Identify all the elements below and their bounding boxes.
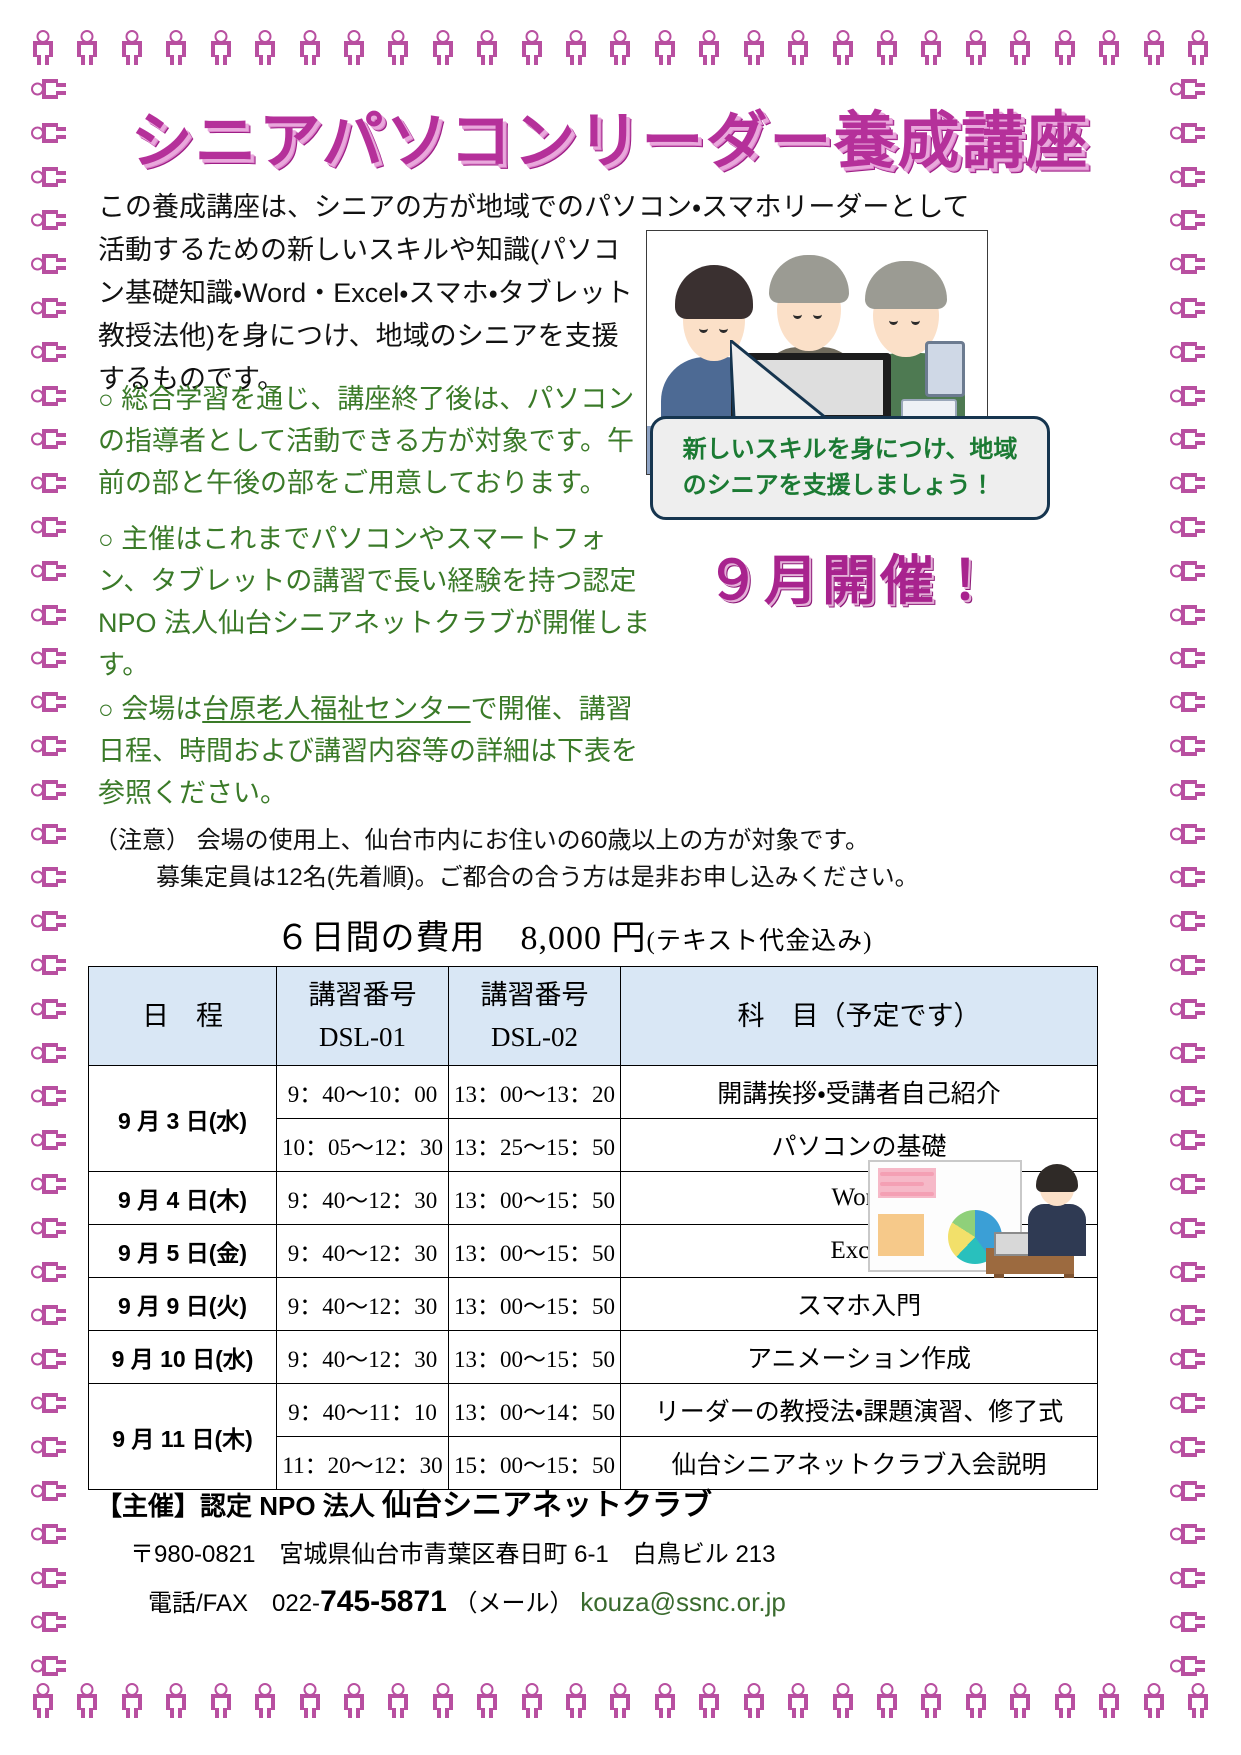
header-subject: 科 目（予定です） [621, 967, 1098, 1066]
header-course-2: 講習番号 DSL-02 [449, 967, 621, 1066]
cell-time-1: 9：40～11：10 [277, 1384, 449, 1437]
border-person-icon [295, 1681, 325, 1723]
border-person-icon [1167, 1519, 1209, 1549]
border-bottom [28, 1681, 1213, 1727]
border-person-icon [28, 906, 70, 936]
bullet-prefix-3: 会場は [121, 694, 202, 724]
cell-date: 9 月 9 日(火) [89, 1278, 277, 1331]
border-person-icon [28, 249, 70, 279]
border-person-icon [1167, 1476, 1209, 1506]
border-person-icon [739, 28, 769, 70]
border-person-icon [28, 1432, 70, 1462]
border-person-icon [1094, 28, 1124, 70]
mail-label: （メール） [454, 1590, 574, 1617]
border-person-icon [28, 1563, 70, 1593]
header-course-1-code: DSL-01 [281, 1016, 444, 1058]
bubble-line-1: 新しいスキルを身につけ、地域 [683, 436, 1018, 463]
tel-number: 745-5871 [320, 1585, 447, 1618]
border-person-icon [1167, 424, 1209, 454]
cell-date: 9 月 11 日(木) [89, 1384, 277, 1490]
border-person-icon [1167, 468, 1209, 498]
border-person-icon [1167, 556, 1209, 586]
border-person-icon [28, 468, 70, 498]
border-person-icon [206, 28, 236, 70]
table-row: 9 月 5 日(金)9：40～12：3013：00～15：50Excel [89, 1225, 1098, 1278]
organizer-prefix: 【主催】認定 NPO 法人 [96, 1491, 375, 1521]
bullet-point-3: ○ 会場は台原老人福祉センターで開催、講習日程、時間および講習内容等の詳細は下表… [98, 688, 658, 814]
border-person-icon [28, 1213, 70, 1243]
border-person-icon [28, 74, 70, 104]
border-person-icon [561, 28, 591, 70]
border-person-icon [250, 28, 280, 70]
note-line-2: 募集定員は12名(先着順)。ご都合の合う方は是非お申し込みください。 [94, 859, 1094, 896]
border-person-icon [517, 28, 547, 70]
border-person-icon [1167, 1563, 1209, 1593]
border-person-icon [872, 1681, 902, 1723]
border-person-icon [1167, 293, 1209, 323]
cell-time-1: 9：40～12：30 [277, 1278, 449, 1331]
cell-date: 9 月 3 日(水) [89, 1066, 277, 1172]
border-person-icon [28, 862, 70, 892]
header-course-2-main: 講習番号 [481, 980, 589, 1010]
border-person-icon [1167, 118, 1209, 148]
border-person-icon [28, 293, 70, 323]
border-person-icon [1167, 994, 1209, 1024]
table-header-row: 日 程 講習番号 DSL-01 講習番号 DSL-02 科 目（予定です） [89, 967, 1098, 1066]
schedule-table-body: 9 月 3 日(水)9：40～10：0013：00～13：20開講挨拶・受講者自… [89, 1066, 1098, 1490]
border-person-icon [961, 1681, 991, 1723]
footer-contact: 【主催】認定 NPO 法人 仙台シニアネットクラブ 〒980-0821 宮城県仙… [96, 1480, 1096, 1619]
fee-heading: ６日間の費用 8,000 円(テキスト代金込み) [94, 910, 1054, 959]
cell-time-2: 13：00～13：20 [449, 1066, 621, 1119]
cell-subject: Excel [621, 1225, 1098, 1278]
border-person-icon [1167, 249, 1209, 279]
tel-label: 電話/FAX 022- [148, 1590, 320, 1617]
table-row: 9 月 3 日(水)9：40～10：0013：00～13：20開講挨拶・受講者自… [89, 1066, 1098, 1119]
border-person-icon [28, 1388, 70, 1418]
border-person-icon [1139, 1681, 1169, 1723]
border-person-icon [605, 1681, 635, 1723]
organizer-line: 【主催】認定 NPO 法人 仙台シニアネットクラブ [96, 1480, 1096, 1524]
cell-time-2: 13：25～15：50 [449, 1119, 621, 1172]
border-person-icon [28, 1300, 70, 1330]
border-person-icon [339, 1681, 369, 1723]
border-person-icon [1167, 1038, 1209, 1068]
border-person-icon [1167, 643, 1209, 673]
border-person-icon [28, 337, 70, 367]
border-person-icon [1005, 1681, 1035, 1723]
bullet-text-1: 総合学習を通じ、講座終了後は、パソコンの指導者として活動できる方が対象です。午前… [98, 384, 634, 498]
border-person-icon [605, 28, 635, 70]
cell-date: 9 月 10 日(水) [89, 1331, 277, 1384]
cell-subject: 開講挨拶・受講者自己紹介 [621, 1066, 1098, 1119]
border-person-icon [28, 162, 70, 192]
border-person-icon [1167, 731, 1209, 761]
border-person-icon [1167, 1125, 1209, 1155]
border-person-icon [1167, 862, 1209, 892]
border-person-icon [916, 1681, 946, 1723]
border-person-icon [28, 1081, 70, 1111]
border-person-icon [561, 1681, 591, 1723]
cell-subject: リーダーの教授法・課題演習、修了式 [621, 1384, 1098, 1437]
border-person-icon [1167, 74, 1209, 104]
border-person-icon [1167, 819, 1209, 849]
border-person-icon [28, 643, 70, 673]
organizer-name: 仙台シニアネットクラブ [382, 1489, 712, 1522]
border-person-icon [28, 512, 70, 542]
border-person-icon [28, 600, 70, 630]
border-person-icon [383, 28, 413, 70]
border-person-icon [694, 1681, 724, 1723]
border-person-icon [1167, 1432, 1209, 1462]
flyer-content: シニアパソコンリーダー養成講座 この養成講座は、シニアの方が地域でのパソコン・ス… [78, 78, 1163, 1678]
border-person-icon [1050, 1681, 1080, 1723]
intro-rest: 活動するための新しいスキルや知識(パソコン基礎知識・Word・Excel・スマホ… [98, 229, 643, 401]
border-person-icon [472, 1681, 502, 1723]
border-person-icon [28, 28, 58, 70]
border-person-icon [872, 28, 902, 70]
bubble-line-2: のシニアを支援しましょう！ [683, 472, 995, 499]
border-person-icon [694, 28, 724, 70]
border-person-icon [1167, 1388, 1209, 1418]
cell-time-2: 13：00～15：50 [449, 1172, 621, 1225]
cell-time-2: 13：00～14：50 [449, 1384, 621, 1437]
border-person-icon [650, 1681, 680, 1723]
cell-time-2: 13：00～15：50 [449, 1225, 621, 1278]
border-person-icon [250, 1681, 280, 1723]
border-right [1167, 74, 1213, 1681]
email-address[interactable]: kouza@ssnc.or.jp [580, 1587, 786, 1617]
border-person-icon [1167, 1081, 1209, 1111]
bullet-mark-1: ○ [98, 384, 114, 414]
header-subject-main: 科 目（予定です） [738, 1001, 981, 1031]
border-person-icon [517, 1681, 547, 1723]
border-person-icon [1167, 1607, 1209, 1637]
border-person-icon [1050, 28, 1080, 70]
border-person-icon [1167, 687, 1209, 717]
border-person-icon [1167, 1169, 1209, 1199]
border-person-icon [1167, 1344, 1209, 1374]
border-person-icon [28, 381, 70, 411]
bullet-mark-3: ○ [98, 694, 114, 724]
border-person-icon [28, 687, 70, 717]
intro-line-1: この養成講座は、シニアの方が地域でのパソコン・スマホリーダーとして [98, 186, 1033, 229]
cell-subject: Word [621, 1172, 1098, 1225]
border-person-icon [1167, 162, 1209, 192]
cell-time-1: 9：40～10：00 [277, 1066, 449, 1119]
border-person-icon [428, 1681, 458, 1723]
header-date-main: 日 程 [142, 1001, 223, 1031]
border-person-icon [1167, 1213, 1209, 1243]
table-row: 9 月 4 日(木)9：40～12：3013：00～15：50Word [89, 1172, 1098, 1225]
border-person-icon [28, 994, 70, 1024]
organizer-contact: 電話/FAX 022-745-5871 （メール） kouza@ssnc.or.… [96, 1583, 1096, 1619]
border-person-icon [72, 1681, 102, 1723]
table-row: 9 月 9 日(火)9：40～12：3013：00～15：50スマホ入門 [89, 1278, 1098, 1331]
table-row: 9 月 10 日(水)9：40～12：3013：00～15：50アニメーション作… [89, 1331, 1098, 1384]
border-person-icon [28, 1476, 70, 1506]
border-person-icon [739, 1681, 769, 1723]
border-person-icon [28, 950, 70, 980]
border-person-icon [828, 28, 858, 70]
border-person-icon [295, 28, 325, 70]
bullet-text-2: 主催はこれまでパソコンやスマートフォン、タブレットの講習で長い経験を持つ認定NP… [98, 524, 650, 680]
border-person-icon [117, 1681, 147, 1723]
border-person-icon [1167, 600, 1209, 630]
cell-subject: アニメーション作成 [621, 1331, 1098, 1384]
bullet-mark-2: ○ [98, 524, 114, 554]
border-person-icon [28, 1038, 70, 1068]
border-person-icon [28, 1257, 70, 1287]
organizer-address: 〒980-0821 宮城県仙台市青葉区春日町 6-1 白鳥ビル 213 [96, 1534, 1096, 1569]
border-person-icon [1094, 1681, 1124, 1723]
border-person-icon [28, 775, 70, 805]
table-row: 9 月 11 日(木)9：40～11：1013：00～14：50リーダーの教授法… [89, 1384, 1098, 1437]
border-person-icon [1167, 906, 1209, 936]
month-banner: ９月開催！ [656, 536, 1046, 615]
bullet-point-2: ○ 主催はこれまでパソコンやスマートフォン、タブレットの講習で長い経験を持つ認定… [98, 518, 658, 686]
border-person-icon [1167, 512, 1209, 542]
border-person-icon [428, 28, 458, 70]
speech-bubble: 新しいスキルを身につけ、地域 のシニアを支援しましょう！ [650, 416, 1050, 520]
speech-bubble-text: 新しいスキルを身につけ、地域 のシニアを支援しましょう！ [673, 432, 1028, 504]
fee-main: ６日間の費用 8,000 円 [276, 920, 647, 957]
cell-time-1: 10：05～12：30 [277, 1119, 449, 1172]
border-person-icon [28, 556, 70, 586]
border-person-icon [783, 1681, 813, 1723]
border-person-icon [1167, 1257, 1209, 1287]
border-person-icon [28, 1681, 58, 1723]
cell-time-1: 9：40～12：30 [277, 1172, 449, 1225]
cell-time-2: 13：00～15：50 [449, 1278, 621, 1331]
border-left [28, 74, 74, 1681]
border-top [28, 28, 1213, 74]
border-person-icon [1167, 205, 1209, 235]
border-person-icon [28, 205, 70, 235]
border-person-icon [28, 1169, 70, 1199]
fee-suffix: (テキスト代金込み) [647, 928, 873, 955]
border-person-icon [472, 28, 502, 70]
cell-time-1: 9：40～12：30 [277, 1331, 449, 1384]
note-line-1: （注意） 会場の使用上、仙台市内にお住いの60歳以上の方が対象です。 [94, 827, 869, 854]
border-person-icon [1183, 1681, 1213, 1723]
header-course-1: 講習番号 DSL-01 [277, 967, 449, 1066]
page-title: シニアパソコンリーダー養成講座 [100, 90, 1120, 180]
border-person-icon [1139, 28, 1169, 70]
border-person-icon [161, 28, 191, 70]
cell-subject: パソコンの基礎 [621, 1119, 1098, 1172]
border-person-icon [161, 1681, 191, 1723]
header-course-2-code: DSL-02 [453, 1016, 616, 1058]
border-person-icon [916, 28, 946, 70]
border-person-icon [783, 28, 813, 70]
schedule-table: 日 程 講習番号 DSL-01 講習番号 DSL-02 科 目（予定です） 9 … [88, 966, 1098, 1490]
border-person-icon [1005, 28, 1035, 70]
border-person-icon [650, 28, 680, 70]
border-person-icon [28, 731, 70, 761]
border-person-icon [383, 1681, 413, 1723]
border-person-icon [206, 1681, 236, 1723]
border-person-icon [1167, 1300, 1209, 1330]
border-person-icon [28, 118, 70, 148]
border-person-icon [1167, 1651, 1209, 1681]
border-person-icon [339, 28, 369, 70]
header-date: 日 程 [89, 967, 277, 1066]
border-person-icon [72, 28, 102, 70]
header-course-1-main: 講習番号 [309, 980, 417, 1010]
cell-date: 9 月 4 日(木) [89, 1172, 277, 1225]
border-person-icon [28, 1607, 70, 1637]
border-person-icon [1167, 381, 1209, 411]
cell-subject: スマホ入門 [621, 1278, 1098, 1331]
border-person-icon [961, 28, 991, 70]
eligibility-notes: （注意） 会場の使用上、仙台市内にお住いの60歳以上の方が対象です。 募集定員は… [94, 822, 1094, 896]
border-person-icon [28, 424, 70, 454]
border-person-icon [28, 1519, 70, 1549]
cell-date: 9 月 5 日(金) [89, 1225, 277, 1278]
border-person-icon [28, 1344, 70, 1374]
cell-time-1: 9：40～12：30 [277, 1225, 449, 1278]
border-person-icon [828, 1681, 858, 1723]
bullet-point-1: ○ 総合学習を通じ、講座終了後は、パソコンの指導者として活動できる方が対象です。… [98, 378, 658, 504]
border-person-icon [28, 819, 70, 849]
cell-time-2: 13：00～15：50 [449, 1331, 621, 1384]
border-person-icon [1167, 775, 1209, 805]
venue-name: 台原老人福祉センター [202, 694, 470, 724]
border-person-icon [1167, 950, 1209, 980]
border-person-icon [28, 1125, 70, 1155]
border-person-icon [1183, 28, 1213, 70]
border-person-icon [117, 28, 147, 70]
border-person-icon [1167, 337, 1209, 367]
border-person-icon [28, 1651, 70, 1681]
